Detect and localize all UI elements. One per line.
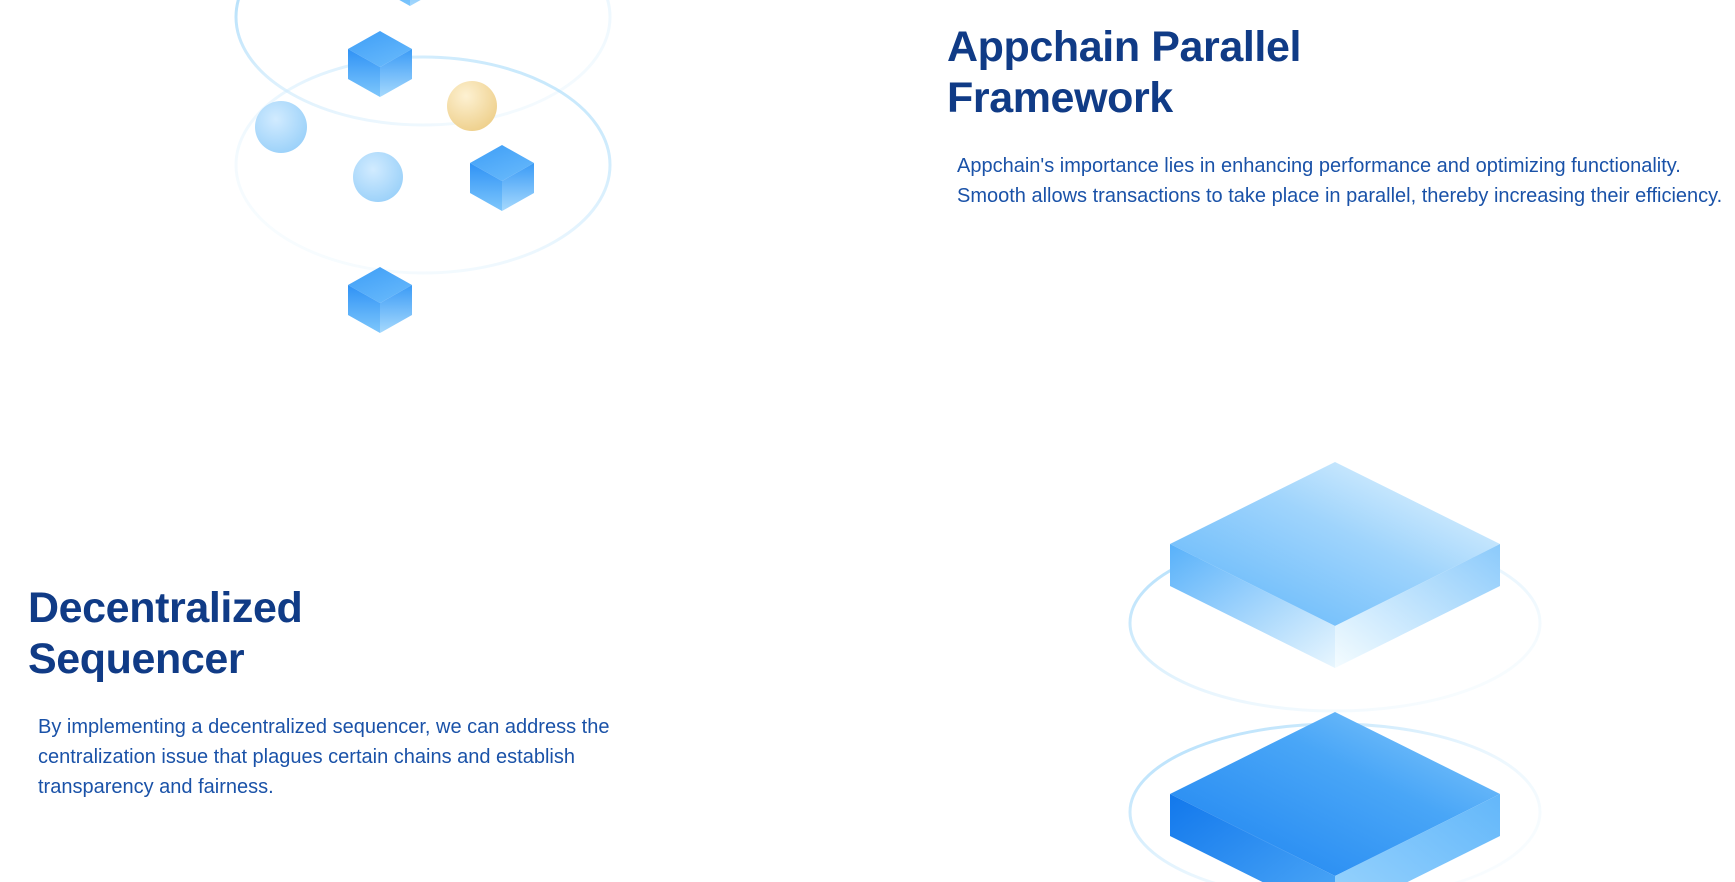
slab-upper	[1170, 462, 1500, 668]
ring-lower	[236, 57, 610, 273]
cube-upper-center	[348, 31, 412, 97]
orbiting-cubes-illustration	[150, 0, 710, 375]
appchain-body-text: Appchain's importance lies in enhancing …	[957, 151, 1725, 211]
slab-lower	[1170, 712, 1500, 882]
cube-top	[378, 0, 442, 6]
sequencer-body-text: By implementing a decentralized sequence…	[38, 712, 678, 802]
landing-page: Appchain Parallel Framework Appchain's i…	[0, 0, 1735, 882]
sphere-blue-left	[255, 101, 307, 153]
slab-ring-upper	[1130, 535, 1540, 711]
sequencer-section: Decentralized Sequencer By implementing …	[28, 583, 728, 802]
slab-ring-lower	[1130, 724, 1540, 882]
ring-upper	[236, 0, 610, 125]
sequencer-heading: Decentralized Sequencer	[28, 583, 368, 685]
cube-bottom	[348, 267, 412, 333]
stacked-slabs-illustration	[1050, 440, 1610, 882]
appchain-heading: Appchain Parallel Framework	[947, 22, 1367, 124]
cube-right	[470, 145, 534, 211]
sphere-yellow	[447, 81, 497, 131]
sphere-blue-center	[353, 152, 403, 202]
appchain-section: Appchain Parallel Framework Appchain's i…	[947, 22, 1717, 211]
